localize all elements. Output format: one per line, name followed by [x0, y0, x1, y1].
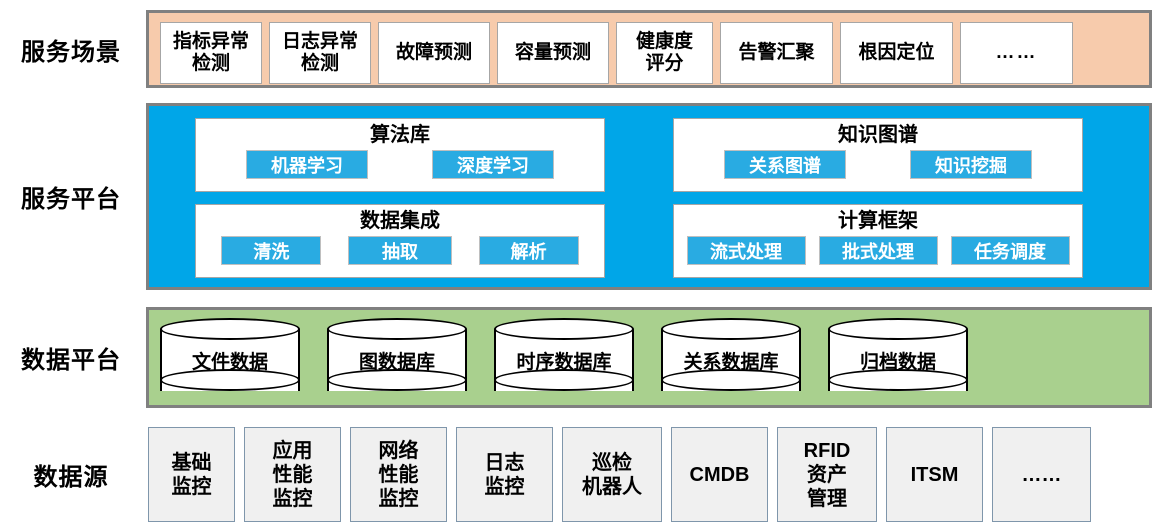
source-box-network-performance-monitoring[interactable]: 网络 性能 监控 — [350, 427, 447, 522]
panel-title: 算法库 — [196, 124, 604, 146]
cylinder-relational-database[interactable]: 关系数据库 — [661, 318, 801, 402]
chip-label: 解析 — [511, 238, 547, 264]
panel-knowledge-graph: 知识图谱 关系图谱 知识挖掘 — [673, 118, 1083, 192]
chip-label: 流式处理 — [710, 238, 782, 264]
scene-box-label: 根因定位 — [858, 42, 934, 64]
chip-task-scheduling[interactable]: 任务调度 — [951, 236, 1070, 265]
source-box-more[interactable]: …… — [992, 427, 1091, 522]
source-box-application-performance-monitoring[interactable]: 应用 性能 监控 — [244, 427, 341, 522]
chip-knowledge-mining[interactable]: 知识挖掘 — [910, 150, 1032, 179]
panel-title: 知识图谱 — [674, 124, 1082, 146]
cylinder-label: 关系数据库 — [661, 318, 801, 402]
scene-box-more[interactable]: …… — [960, 22, 1073, 84]
scene-box-label: 故障预测 — [396, 42, 472, 64]
row-label-data-source: 数据源 — [0, 427, 142, 522]
cylinder-label: 归档数据 — [828, 318, 968, 402]
chip-deep-learning[interactable]: 深度学习 — [432, 150, 554, 179]
chip-row: 关系图谱 知识挖掘 — [674, 150, 1082, 179]
chip-extraction[interactable]: 抽取 — [348, 236, 452, 265]
scene-box-label: 容量预测 — [515, 42, 591, 64]
chip-parsing[interactable]: 解析 — [479, 236, 579, 265]
scene-box-capacity-prediction[interactable]: 容量预测 — [497, 22, 609, 84]
source-box-infrastructure-monitoring[interactable]: 基础 监控 — [148, 427, 235, 522]
panel-title: 计算框架 — [674, 210, 1082, 232]
chip-label: 深度学习 — [457, 152, 529, 178]
chip-batch-processing[interactable]: 批式处理 — [819, 236, 938, 265]
scene-box-log-anomaly-detection[interactable]: 日志异常 检测 — [269, 22, 371, 84]
chip-machine-learning[interactable]: 机器学习 — [246, 150, 368, 179]
chip-label: 批式处理 — [842, 238, 914, 264]
scene-box-root-cause-location[interactable]: 根因定位 — [840, 22, 953, 84]
panel-computing-framework: 计算框架 流式处理 批式处理 任务调度 — [673, 204, 1083, 278]
panel-data-integration: 数据集成 清洗 抽取 解析 — [195, 204, 605, 278]
chip-row: 机器学习 深度学习 — [196, 150, 604, 179]
panel-algorithm-library: 算法库 机器学习 深度学习 — [195, 118, 605, 192]
chip-label: 知识挖掘 — [935, 152, 1007, 178]
service-scene-box-list: 指标异常 检测 日志异常 检测 故障预测 容量预测 健康度 评分 告警汇聚 根因… — [160, 22, 1073, 84]
cylinder-label: 图数据库 — [327, 318, 467, 402]
cylinder-timeseries-database[interactable]: 时序数据库 — [494, 318, 634, 402]
chip-stream-processing[interactable]: 流式处理 — [687, 236, 806, 265]
row-label-data-platform: 数据平台 — [0, 307, 142, 408]
cylinder-label: 时序数据库 — [494, 318, 634, 402]
cylinder-label: 文件数据 — [160, 318, 300, 402]
data-store-list: 文件数据 图数据库 时序数据库 关系数据库 归档数据 — [160, 318, 968, 402]
chip-relation-graph[interactable]: 关系图谱 — [724, 150, 846, 179]
scene-box-metric-anomaly-detection[interactable]: 指标异常 检测 — [160, 22, 262, 84]
chip-cleaning[interactable]: 清洗 — [221, 236, 321, 265]
ellipsis-icon: …… — [996, 42, 1038, 64]
chip-label: 机器学习 — [271, 152, 343, 178]
cylinder-graph-database[interactable]: 图数据库 — [327, 318, 467, 402]
chip-label: 任务调度 — [974, 238, 1046, 264]
chip-label: 清洗 — [253, 238, 289, 264]
source-box-cmdb[interactable]: CMDB — [671, 427, 768, 522]
panel-title: 数据集成 — [196, 210, 604, 232]
scene-box-health-score[interactable]: 健康度 评分 — [616, 22, 713, 84]
source-box-itsm[interactable]: ITSM — [886, 427, 983, 522]
chip-label: 关系图谱 — [749, 152, 821, 178]
chip-row: 流式处理 批式处理 任务调度 — [674, 236, 1082, 265]
source-box-rfid-asset-management[interactable]: RFID 资产 管理 — [777, 427, 877, 522]
chip-row: 清洗 抽取 解析 — [196, 236, 604, 265]
scene-box-label: 指标异常 检测 — [173, 31, 249, 74]
data-source-box-list: 基础 监控 应用 性能 监控 网络 性能 监控 日志 监控 巡检 机器人 CMD… — [148, 427, 1091, 522]
scene-box-label: 告警汇聚 — [738, 42, 814, 64]
source-box-log-monitoring[interactable]: 日志 监控 — [456, 427, 553, 522]
scene-box-alarm-aggregation[interactable]: 告警汇聚 — [720, 22, 833, 84]
source-box-inspection-robot[interactable]: 巡检 机器人 — [562, 427, 662, 522]
row-label-service-scene: 服务场景 — [0, 10, 142, 88]
scene-box-label: 日志异常 检测 — [282, 31, 358, 74]
row-label-service-platform: 服务平台 — [0, 103, 142, 290]
architecture-diagram: 服务场景 服务平台 数据平台 数据源 指标异常 检测 日志异常 检测 故障预测 … — [0, 0, 1159, 530]
scene-box-fault-prediction[interactable]: 故障预测 — [378, 22, 490, 84]
cylinder-archive-data[interactable]: 归档数据 — [828, 318, 968, 402]
chip-label: 抽取 — [382, 238, 418, 264]
cylinder-file-data[interactable]: 文件数据 — [160, 318, 300, 402]
scene-box-label: 健康度 评分 — [636, 31, 693, 74]
